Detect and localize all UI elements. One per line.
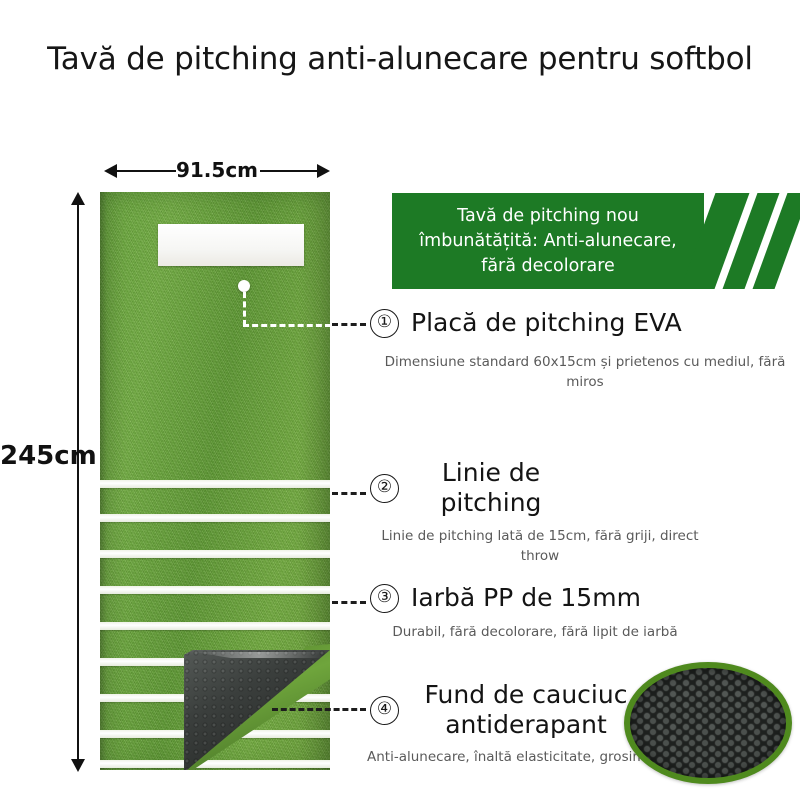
dimension-line-vertical bbox=[77, 204, 79, 760]
pitching-line-stripe bbox=[100, 514, 330, 522]
pitching-line-stripe bbox=[100, 550, 330, 558]
callout-2-head: ② Linie de pitching bbox=[370, 458, 710, 518]
callout-item-2: ② Linie de pitching Linie de pitching la… bbox=[370, 458, 710, 566]
promo-banner-body: Tavă de pitching nou îmbunătățită: Anti-… bbox=[392, 193, 704, 289]
leader-line-callout-1 bbox=[332, 323, 366, 326]
leader-line-horizontal-on-mat bbox=[243, 324, 330, 327]
rubber-texture-oval-inset bbox=[624, 662, 792, 784]
promo-banner-line-1: Tavă de pitching nou bbox=[419, 204, 676, 229]
callout-3-title: Iarbă PP de 15mm bbox=[411, 583, 641, 613]
arrow-right-icon bbox=[317, 164, 330, 178]
callout-2-subtitle: Linie de pitching lată de 15cm, fără gri… bbox=[370, 526, 710, 566]
callout-item-3: ③ Iarbă PP de 15mm Durabil, fără decolor… bbox=[370, 583, 700, 642]
promo-banner-line-3: fără decolorare bbox=[419, 254, 676, 279]
arrow-down-icon bbox=[71, 759, 85, 772]
callout-2-title: Linie de pitching bbox=[411, 458, 571, 518]
pitching-mat-image bbox=[100, 192, 330, 770]
callout-number-1: ① bbox=[370, 309, 399, 338]
promo-banner-line-2: îmbunătățită: Anti-alunecare, bbox=[419, 229, 676, 254]
ball-marker-dot bbox=[238, 280, 250, 292]
leader-line-callout-4 bbox=[272, 708, 366, 711]
callout-item-1: ① Placă de pitching EVA Dimensiune stand… bbox=[370, 308, 800, 392]
callout-1-title: Placă de pitching EVA bbox=[411, 308, 682, 338]
fold-highlight bbox=[194, 652, 324, 658]
dimension-line-right bbox=[260, 170, 322, 172]
callout-3-subtitle: Durabil, fără decolorare, fără lipit de … bbox=[370, 622, 700, 642]
callout-4-title: Fund de cauciuc antiderapant bbox=[411, 680, 641, 740]
callout-1-head: ① Placă de pitching EVA bbox=[370, 308, 800, 338]
width-dimension: 91.5cm bbox=[104, 155, 330, 185]
callout-number-3: ③ bbox=[370, 584, 399, 613]
pitching-line-stripe bbox=[100, 586, 330, 594]
callout-number-4: ④ bbox=[370, 696, 399, 725]
page-title: Tavă de pitching anti-alunecare pentru s… bbox=[0, 41, 800, 77]
eva-pitching-plate bbox=[158, 224, 304, 266]
callout-1-subtitle: Dimensiune standard 60x15cm și prietenos… bbox=[370, 352, 800, 392]
pitching-line-stripe bbox=[100, 622, 330, 630]
folded-rubber-corner bbox=[184, 644, 330, 770]
promo-banner-text: Tavă de pitching nou îmbunătățită: Anti-… bbox=[405, 204, 690, 279]
leader-line-callout-2 bbox=[332, 492, 366, 495]
leader-line-vertical bbox=[243, 292, 246, 326]
callout-3-head: ③ Iarbă PP de 15mm bbox=[370, 583, 700, 613]
callout-number-2: ② bbox=[370, 474, 399, 503]
height-dimension bbox=[70, 192, 86, 772]
rubber-honeycomb-texture bbox=[630, 668, 786, 778]
height-dimension-label: 245cm bbox=[0, 441, 103, 471]
promo-banner: Tavă de pitching nou îmbunătățită: Anti-… bbox=[392, 193, 800, 289]
pitching-line-stripe bbox=[100, 480, 330, 488]
leader-line-callout-3 bbox=[332, 601, 366, 604]
